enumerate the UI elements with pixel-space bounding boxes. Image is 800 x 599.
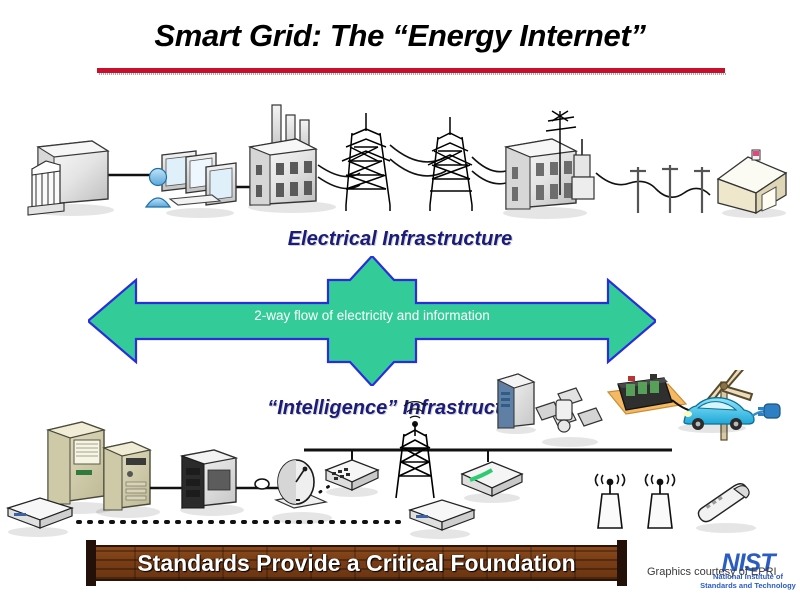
distribution-pole-icon-3: [694, 167, 710, 213]
satellite-dish-icon: [272, 460, 332, 524]
electric-car-icon: [678, 398, 780, 433]
utility-building-icon: [28, 141, 114, 216]
network-switch-icon-2: [410, 500, 474, 539]
satellite-icon: [536, 388, 602, 447]
nist-tagline-line2: Standards and Technology: [700, 582, 796, 591]
two-way-flow-arrow: 2-way flow of electricity and informatio…: [88, 256, 656, 386]
power-plant-icon: [248, 105, 336, 213]
mobile-phone-icon: [696, 484, 756, 533]
transmission-tower-icon-2: [428, 117, 472, 211]
house-icon: [718, 150, 786, 218]
antenna-icon: [596, 474, 625, 528]
distribution-pole-icon: [630, 167, 646, 213]
electrical-infrastructure-label: Electrical Infrastructure: [0, 228, 800, 251]
network-appliance-icon: [496, 374, 536, 434]
antenna-icon-2: [646, 474, 675, 528]
title-divider-shadow: [99, 73, 727, 75]
distribution-pole-icon-2: [662, 165, 678, 213]
router-icon-2: [462, 462, 522, 503]
standards-banner: Standards Provide a Critical Foundation: [88, 545, 625, 581]
server-tower-icon: [96, 442, 160, 518]
page-title: Smart Grid: The “Energy Internet”: [0, 18, 800, 54]
transmission-tower-icon: [342, 113, 390, 211]
server-rack-icon: [180, 450, 244, 516]
electrical-infrastructure-diagram: [0, 95, 800, 230]
graphics-credit: Graphics courtesy of EPRI: [647, 566, 777, 578]
router-icon: [326, 460, 378, 497]
substation-building-icon: [503, 111, 594, 219]
battery-storage-icon: [608, 374, 686, 414]
slide-canvas: Smart Grid: The “Energy Internet”: [0, 0, 800, 599]
intelligence-infrastructure-diagram: [0, 370, 800, 545]
operator-workstation-icon: [146, 151, 236, 218]
banner-text: Standards Provide a Critical Foundation: [88, 545, 625, 581]
